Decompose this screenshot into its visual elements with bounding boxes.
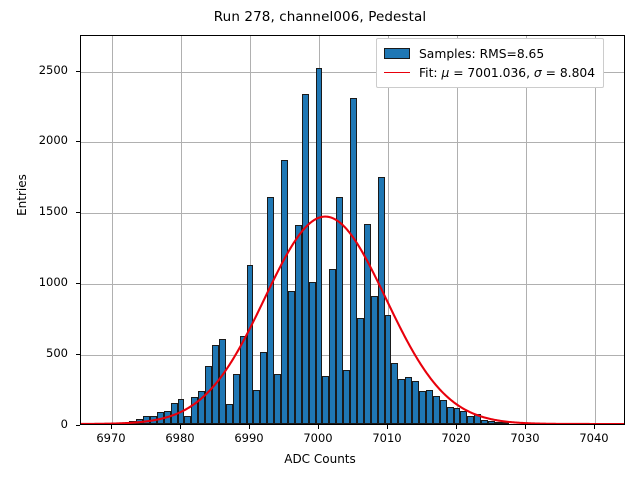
x-axis-tick-label: 7020 [426, 431, 486, 445]
x-axis-tick [387, 425, 388, 429]
x-axis-tick-label: 7010 [357, 431, 417, 445]
y-axis-tick [76, 212, 80, 213]
y-axis-tick-label: 2500 [0, 63, 68, 77]
legend-swatch-bar-icon [384, 48, 410, 59]
x-axis-tick [318, 425, 319, 429]
y-axis-tick [76, 425, 80, 426]
x-axis-tick [525, 425, 526, 429]
y-axis-label: Entries [15, 125, 29, 265]
legend-label-samples: Samples: RMS=8.65 [419, 47, 544, 61]
y-axis-tick-label: 1000 [0, 275, 68, 289]
legend-entry-fit: Fit: μ = 7001.036, σ = 8.804 [384, 63, 595, 82]
y-axis-tick-label: 500 [0, 346, 68, 360]
legend-fit-prefix: Fit: [419, 66, 441, 80]
y-axis-tick [76, 71, 80, 72]
x-axis-tick-label: 6990 [219, 431, 279, 445]
legend-fit-mu-value: = 7001.036, [449, 66, 534, 80]
y-axis-tick [76, 141, 80, 142]
legend-entry-samples: Samples: RMS=8.65 [384, 44, 595, 63]
x-axis-tick [249, 425, 250, 429]
figure-canvas: Run 278, channel006, Pedestal 6970698069… [0, 0, 640, 480]
x-axis-tick [111, 425, 112, 429]
legend-fit-sigma-symbol: σ [534, 66, 542, 80]
chart-title: Run 278, channel006, Pedestal [0, 9, 640, 25]
plot-axes [80, 35, 625, 425]
x-axis-tick-label: 7000 [288, 431, 348, 445]
x-axis-tick-label: 6970 [81, 431, 141, 445]
legend-fit-sigma-value: = 8.804 [542, 66, 595, 80]
plot-area [81, 36, 624, 424]
y-axis-tick-label: 2000 [0, 133, 68, 147]
y-axis-tick [76, 354, 80, 355]
y-axis-tick-label: 0 [0, 417, 68, 431]
x-axis-tick [180, 425, 181, 429]
x-axis-tick-label: 6980 [150, 431, 210, 445]
x-axis-tick-label: 7030 [495, 431, 555, 445]
x-axis-tick [594, 425, 595, 429]
x-axis-tick-label: 7040 [564, 431, 624, 445]
legend-label-fit: Fit: μ = 7001.036, σ = 8.804 [419, 66, 595, 80]
y-axis-tick [76, 283, 80, 284]
gaussian-fit-curve [81, 36, 624, 424]
legend-swatch-line-icon [384, 72, 410, 73]
chart-legend: Samples: RMS=8.65 Fit: μ = 7001.036, σ =… [376, 38, 604, 88]
x-axis-tick [456, 425, 457, 429]
y-axis-tick-label: 1500 [0, 204, 68, 218]
x-axis-label: ADC Counts [0, 452, 640, 466]
